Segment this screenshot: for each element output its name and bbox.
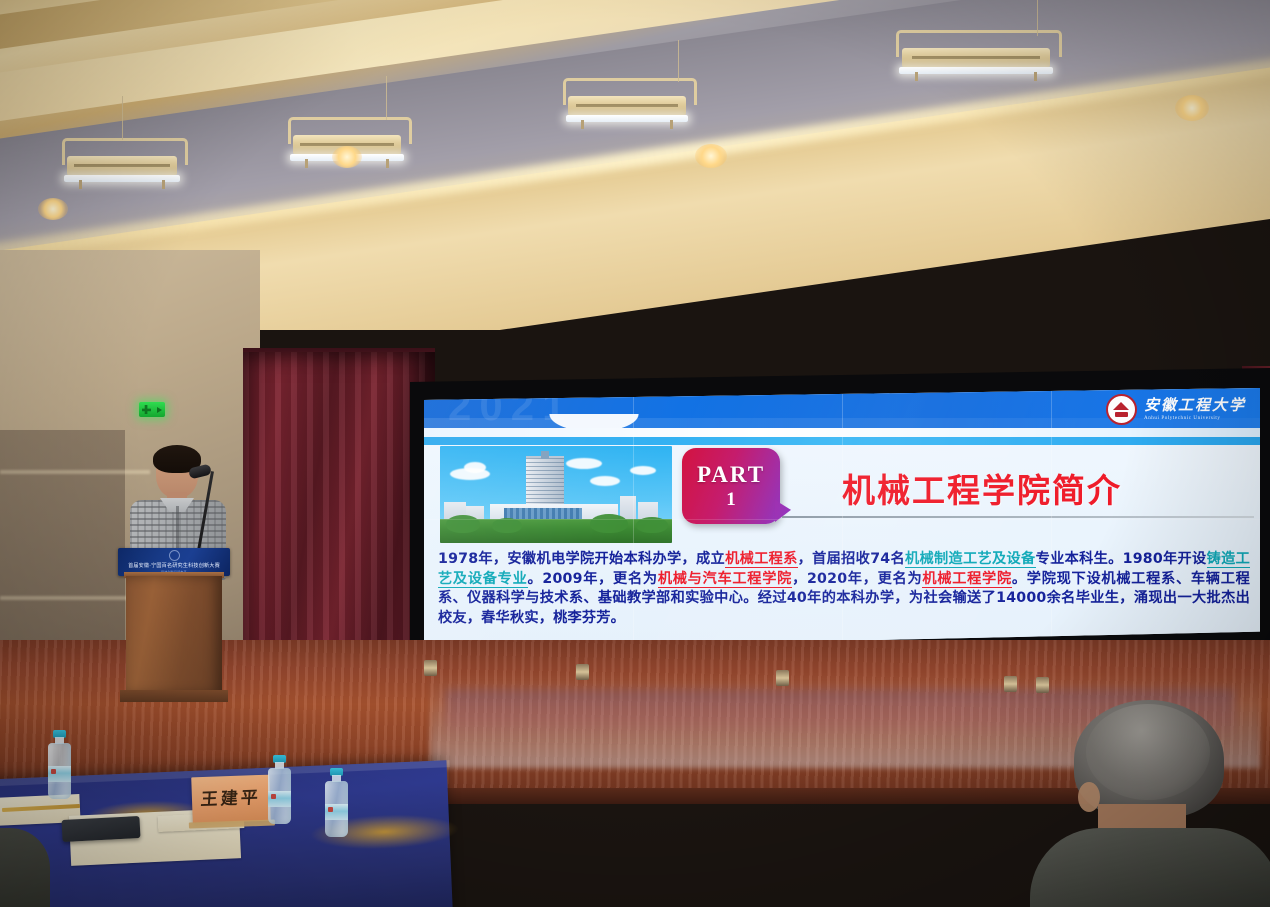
- light-vent: [912, 56, 1040, 59]
- wall-trim-1: [0, 470, 150, 474]
- university-logo: 安徽工程大学 Anhui Polytechnic University: [1106, 394, 1246, 425]
- slide-body-text: 1978年，安徽机电学院开始本科办学，成立机械工程系，首届招收74名机械制造工艺…: [438, 550, 1250, 628]
- light-clip: [305, 159, 308, 168]
- screen-leg: [424, 660, 437, 676]
- body-segment-6: 。2009年，更名为: [528, 571, 658, 587]
- slide-title: 机械工程学院简介: [842, 464, 1122, 512]
- arrow-right-icon: [157, 407, 162, 413]
- tree: [590, 514, 628, 533]
- light-clip: [386, 159, 389, 168]
- conference-hall-photo: 2021 安徽工程大学 Anhui Polytechnic University: [0, 0, 1270, 907]
- left-wall-panel: [0, 430, 125, 660]
- name-card-text: 王建平: [191, 783, 271, 811]
- light-cable-3: [678, 40, 679, 82]
- audience-hair-highlight: [1086, 704, 1210, 800]
- running-person-icon: [142, 405, 151, 414]
- led-screen-wall[interactable]: 2021 安徽工程大学 Anhui Polytechnic University: [410, 368, 1270, 668]
- bottle-brand-mark: [51, 769, 56, 774]
- university-name-cn: 安徽工程大学: [1144, 399, 1246, 414]
- downlight-icon-3: [695, 144, 727, 168]
- light-vent: [576, 104, 678, 107]
- screen-leg: [1004, 676, 1017, 692]
- tree: [492, 518, 522, 533]
- body-segment-3: 机械制造工艺及设备: [905, 551, 1036, 568]
- light-tube: [899, 67, 1053, 74]
- campus-photo: [440, 446, 672, 543]
- body-segment-1: 机械工程系: [725, 551, 798, 568]
- body-segment-8: ，2020年，更名为: [792, 571, 922, 587]
- audience-ear: [1078, 782, 1100, 812]
- bottle-brand-mark: [328, 807, 333, 812]
- downlight-icon-2: [332, 146, 362, 168]
- light-clip: [581, 120, 584, 129]
- stage-curtain-left: [243, 352, 435, 682]
- screen-display[interactable]: 2021 安徽工程大学 Anhui Polytechnic University: [424, 388, 1260, 650]
- podium-body: [126, 576, 222, 694]
- body-segment-4: 专业本科生。1980年开设: [1036, 551, 1207, 567]
- podium: 首届安徽·宁国百名研究生科技创新大赛 科技创新引领未来: [118, 548, 230, 706]
- cloud: [464, 462, 486, 473]
- light-clip: [1034, 72, 1037, 81]
- title-divider: [782, 516, 1254, 518]
- screen-leg: [576, 664, 589, 680]
- stage-light-fixture-3: [563, 78, 691, 138]
- presentation-slide: 2021 安徽工程大学 Anhui Polytechnic University: [424, 388, 1260, 650]
- name-card: 王建平: [191, 775, 271, 824]
- podium-base: [120, 690, 228, 702]
- body-segment-0: 1978年，安徽机电学院开始本科办学，成立: [438, 551, 725, 567]
- name-card-face: 王建平: [191, 775, 271, 824]
- downlight-icon-1: [38, 198, 68, 220]
- exit-sign: [139, 402, 165, 417]
- bottle-brand-mark: [271, 794, 276, 799]
- stage-light-fixture-1: [62, 138, 182, 196]
- screen-support-legs: [424, 660, 1264, 682]
- panel-seam: [424, 519, 1260, 520]
- tablet-device[interactable]: [61, 816, 140, 842]
- university-name-en: Anhui Polytechnic University: [1144, 416, 1246, 421]
- light-cable-2: [386, 76, 387, 120]
- podium-banner-title: 首届安徽·宁国百名研究生科技创新大赛: [128, 562, 220, 569]
- stage-light-fixture-4: [896, 30, 1056, 94]
- downlight-icon-4: [1175, 95, 1209, 121]
- wall-trim-2: [0, 596, 130, 600]
- body-segment-9: 机械工程学院: [922, 571, 1012, 588]
- light-clip: [670, 120, 673, 129]
- body-segment-2: ，首届招收74名: [798, 551, 905, 567]
- screen-leg: [776, 670, 789, 686]
- shield-emblem-icon: [1106, 394, 1137, 425]
- light-clip: [79, 180, 82, 189]
- light-clip: [162, 180, 165, 189]
- light-vent: [74, 164, 170, 167]
- light-cable-4: [1037, 0, 1038, 36]
- light-cable-1: [122, 96, 123, 140]
- audience-shoulders: [1030, 828, 1270, 907]
- cloud: [566, 458, 602, 469]
- part-badge: PART 1: [682, 448, 780, 524]
- tree: [446, 515, 480, 533]
- audience-member: [1040, 700, 1270, 907]
- part-number: 1: [726, 489, 736, 511]
- body-segment-7: 机械与汽车工程学院: [658, 571, 792, 588]
- light-clip: [915, 72, 918, 81]
- part-label: PART: [697, 462, 765, 488]
- screen-leg: [1036, 677, 1049, 693]
- cloud: [590, 476, 620, 486]
- event-emblem-icon: [169, 550, 180, 561]
